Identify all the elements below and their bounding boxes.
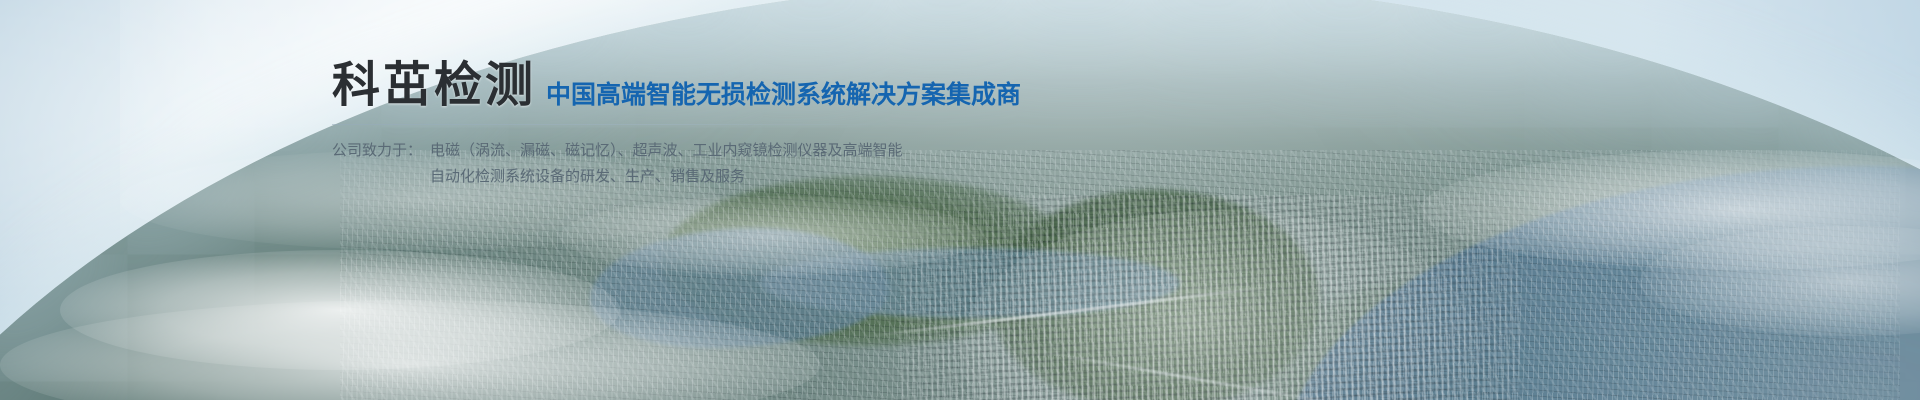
banner-text-block: 科茁检测 中国高端智能无损检测系统解决方案集成商 公司致力于： 电磁（涡流、漏磁…	[332, 62, 1332, 190]
description-line-2: 自动化检测系统设备的研发、生产、销售及服务	[430, 164, 903, 190]
description-label: 公司致力于：	[332, 138, 422, 164]
description-lines: 电磁（涡流、漏磁、磁记忆）、超声波、工业内窥镜检测仪器及高端智能 自动化检测系统…	[430, 138, 903, 190]
description-line-1: 电磁（涡流、漏磁、磁记忆）、超声波、工业内窥镜检测仪器及高端智能	[430, 138, 903, 164]
horizontal-divider	[332, 124, 918, 125]
brand-title-row: 科茁检测 中国高端智能无损检测系统解决方案集成商	[332, 62, 1332, 110]
brand-slogan: 中国高端智能无损检测系统解决方案集成商	[546, 83, 1021, 110]
hero-banner: 科茁检测 中国高端智能无损检测系统解决方案集成商 公司致力于： 电磁（涡流、漏磁…	[0, 0, 1920, 400]
curved-earth-city-panorama	[0, 0, 1920, 400]
brand-title: 科茁检测	[332, 62, 536, 110]
company-description: 公司致力于： 电磁（涡流、漏磁、磁记忆）、超声波、工业内窥镜检测仪器及高端智能 …	[332, 138, 1332, 190]
